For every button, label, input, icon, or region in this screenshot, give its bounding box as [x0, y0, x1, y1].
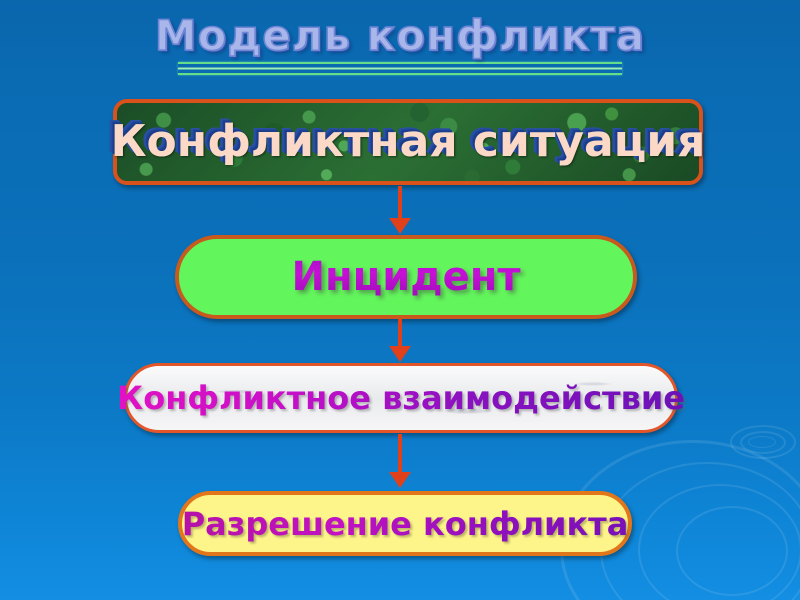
diagram-node-resolution[interactable]: Разрешение конфликта	[178, 491, 632, 556]
arrow-stem	[398, 186, 402, 220]
diagram-node-label: Конфликтная ситуация	[111, 117, 706, 167]
diagram-node-label: Конфликтное взаимодействие	[117, 380, 685, 416]
diagram-node-situation[interactable]: Конфликтная ситуация	[113, 99, 703, 185]
background-ripple-decoration	[748, 436, 776, 448]
diagram-node-label: Разрешение конфликта	[182, 506, 629, 542]
presentation-slide: Модель конфликта Конфликтная ситуация Ин…	[0, 0, 800, 600]
arrow-head	[389, 346, 411, 362]
arrow-stem	[398, 434, 402, 474]
background-ripple-decoration	[638, 484, 800, 600]
background-ripple-decoration	[740, 431, 786, 454]
arrow-down-icon	[396, 319, 404, 364]
diagram-node-label: Инцидент	[291, 254, 520, 300]
background-ripple-decoration	[676, 506, 788, 596]
arrow-stem	[398, 319, 402, 348]
title-underline-rule	[178, 62, 622, 75]
diagram-node-interaction[interactable]: Конфликтное взаимодействие	[124, 363, 678, 433]
arrow-head	[389, 472, 411, 488]
slide-title-block: Модель конфликта	[0, 12, 800, 75]
arrow-down-icon	[396, 434, 404, 492]
page-title: Модель конфликта	[155, 12, 645, 60]
diagram-node-incident[interactable]: Инцидент	[175, 235, 637, 319]
background-ripple-decoration	[730, 425, 796, 459]
arrow-head	[389, 218, 411, 234]
arrow-down-icon	[396, 186, 404, 236]
